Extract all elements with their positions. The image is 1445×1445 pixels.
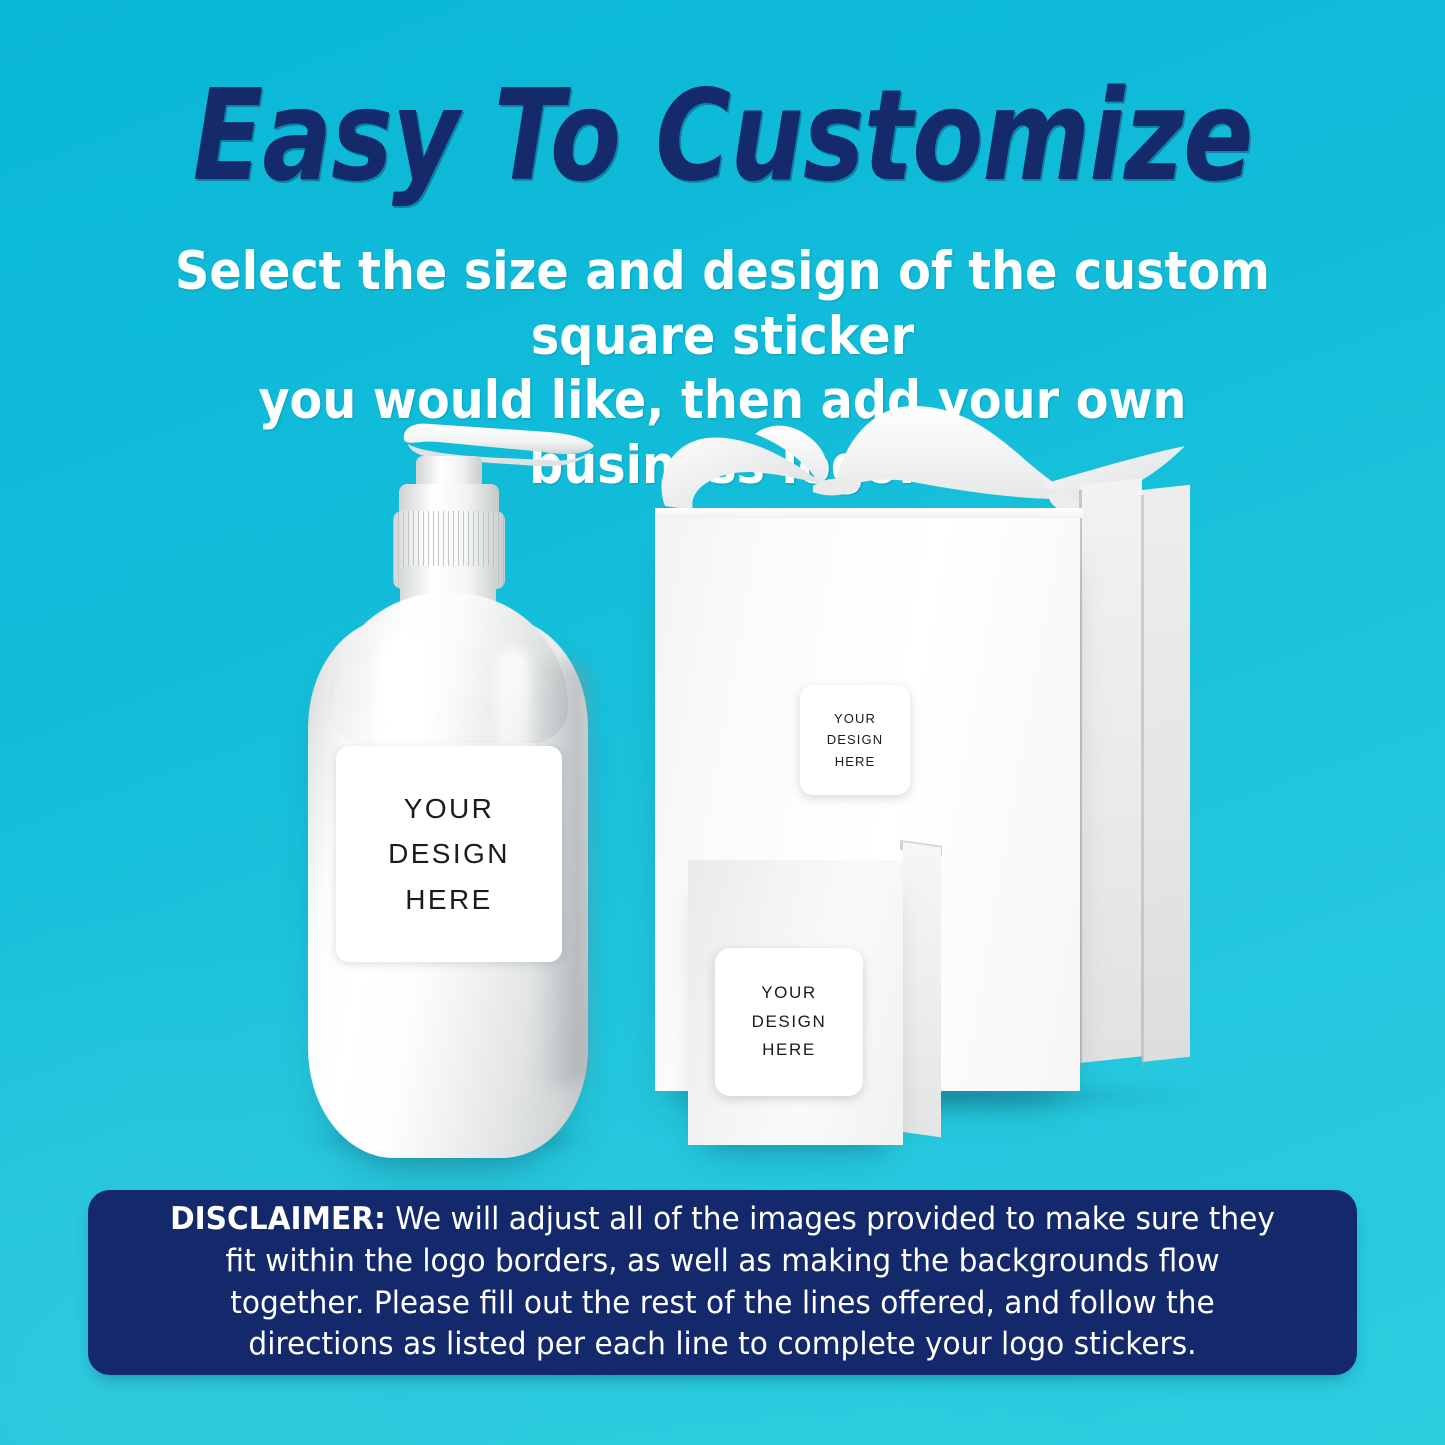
page-title: Easy To Customize [130,72,1315,201]
bottle-label-sticker: YOUR DESIGN HERE [336,746,562,962]
bottle-label-line-3: HERE [405,877,492,922]
gift-box-side-panel [1080,478,1142,1063]
gift-sticker-line-1: YOUR [834,708,876,729]
gift-box-seam-2 [1141,495,1144,1067]
product-stage: YOUR DESIGN HERE YOUR DESIGN HERE [0,380,1445,1200]
bottle-shoulder [328,593,568,743]
small-sticker-line-1: YOUR [761,979,817,1008]
promo-banner: Easy To Customize Select the size and de… [0,0,1445,1445]
bottle-label-line-1: YOUR [404,786,495,831]
disclaimer-box: DISCLAIMER: We will adjust all of the im… [88,1190,1357,1375]
small-box: YOUR DESIGN HERE [688,860,958,1160]
disclaimer-text: DISCLAIMER: We will adjust all of the im… [126,1199,1319,1367]
small-box-side-panel [903,842,941,1137]
gift-box-top-edge [655,508,1083,518]
disclaimer-label: DISCLAIMER: [170,1201,386,1237]
gift-sticker-line-2: DESIGN [827,729,883,750]
gift-box-sticker: YOUR DESIGN HERE [800,685,910,795]
gift-box-back-panel [1142,485,1190,1062]
gift-sticker-line-3: HERE [835,751,876,772]
subtitle-line-1: Select the size and design of the custom… [159,240,1287,369]
small-box-sticker: YOUR DESIGN HERE [715,948,863,1096]
bottle-label-line-2: DESIGN [388,831,510,876]
small-sticker-line-3: HERE [762,1036,816,1065]
small-sticker-line-2: DESIGN [752,1008,827,1037]
pump-bottle: YOUR DESIGN HERE [298,418,598,1158]
